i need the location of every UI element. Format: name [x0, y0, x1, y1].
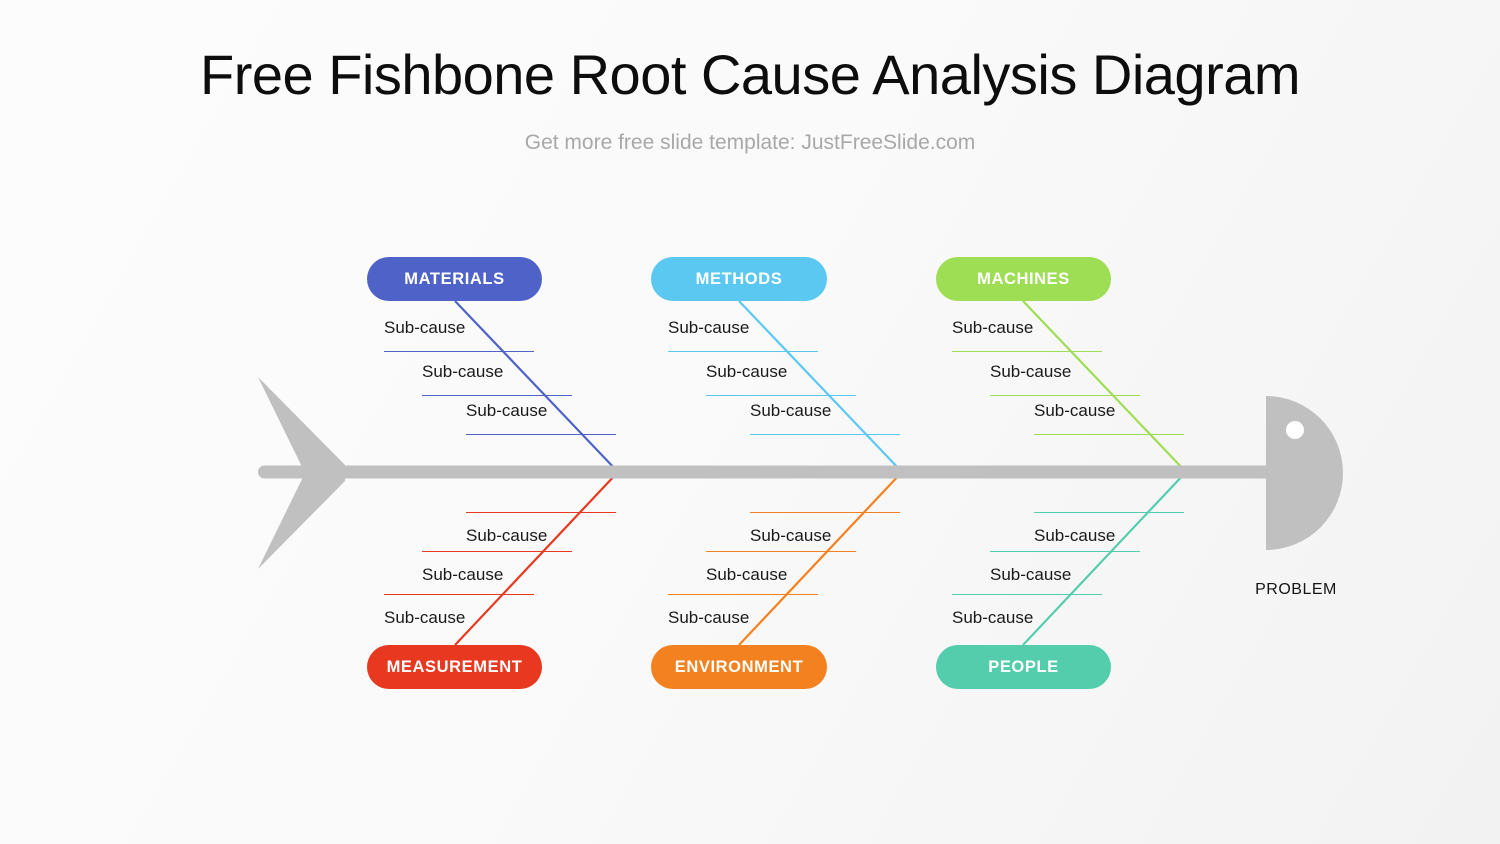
subcause-measurement-1[interactable]: Sub-cause	[466, 512, 616, 546]
subcause-label: Sub-cause	[990, 362, 1071, 380]
subcause-materials-2[interactable]: Sub-cause	[422, 362, 572, 396]
category-pill-people[interactable]: PEOPLE	[936, 645, 1111, 689]
subcause-label: Sub-cause	[466, 527, 547, 546]
subcause-materials-1[interactable]: Sub-cause	[384, 318, 534, 352]
page-subtitle: Get more free slide template: JustFreeSl…	[0, 131, 1500, 155]
category-pill-environment[interactable]: ENVIRONMENT	[651, 645, 827, 689]
subcause-people-2[interactable]: Sub-cause	[990, 551, 1140, 585]
category-pill-methods[interactable]: METHODS	[651, 257, 827, 301]
subcause-label: Sub-cause	[952, 318, 1033, 336]
page-title: Free Fishbone Root Cause Analysis Diagra…	[0, 44, 1500, 106]
fish-eye-icon	[1286, 421, 1304, 439]
subcause-label: Sub-cause	[668, 609, 749, 628]
subcause-label: Sub-cause	[990, 566, 1071, 585]
subcause-label: Sub-cause	[668, 318, 749, 336]
subcause-machines-1[interactable]: Sub-cause	[952, 318, 1102, 352]
subcause-label: Sub-cause	[1034, 527, 1115, 546]
subcause-environment-3[interactable]: Sub-cause	[668, 594, 818, 628]
fish-tail-icon	[258, 377, 345, 569]
fish-spine	[258, 466, 1284, 479]
problem-label: PROBLEM	[1210, 581, 1382, 599]
subcause-methods-1[interactable]: Sub-cause	[668, 318, 818, 352]
subcause-label: Sub-cause	[750, 527, 831, 546]
subcause-label: Sub-cause	[1034, 401, 1115, 419]
subcause-people-3[interactable]: Sub-cause	[952, 594, 1102, 628]
subcause-label: Sub-cause	[952, 609, 1033, 628]
subcause-label: Sub-cause	[466, 401, 547, 419]
subcause-measurement-3[interactable]: Sub-cause	[384, 594, 534, 628]
category-pill-materials[interactable]: MATERIALS	[367, 257, 542, 301]
subcause-methods-3[interactable]: Sub-cause	[750, 401, 900, 435]
fish-head-icon	[1266, 396, 1343, 550]
category-pill-machines[interactable]: MACHINES	[936, 257, 1111, 301]
subcause-people-1[interactable]: Sub-cause	[1034, 512, 1184, 546]
fishbone-slide: Free Fishbone Root Cause Analysis Diagra…	[0, 0, 1500, 844]
subcause-label: Sub-cause	[422, 362, 503, 380]
subcause-label: Sub-cause	[706, 566, 787, 585]
subcause-label: Sub-cause	[706, 362, 787, 380]
subcause-label: Sub-cause	[750, 401, 831, 419]
subcause-environment-2[interactable]: Sub-cause	[706, 551, 856, 585]
subcause-materials-3[interactable]: Sub-cause	[466, 401, 616, 435]
subcause-methods-2[interactable]: Sub-cause	[706, 362, 856, 396]
subcause-machines-2[interactable]: Sub-cause	[990, 362, 1140, 396]
category-pill-measurement[interactable]: MEASUREMENT	[367, 645, 542, 689]
subcause-label: Sub-cause	[384, 609, 465, 628]
subcause-label: Sub-cause	[422, 566, 503, 585]
subcause-label: Sub-cause	[384, 318, 465, 336]
subcause-machines-3[interactable]: Sub-cause	[1034, 401, 1184, 435]
subcause-measurement-2[interactable]: Sub-cause	[422, 551, 572, 585]
subcause-environment-1[interactable]: Sub-cause	[750, 512, 900, 546]
